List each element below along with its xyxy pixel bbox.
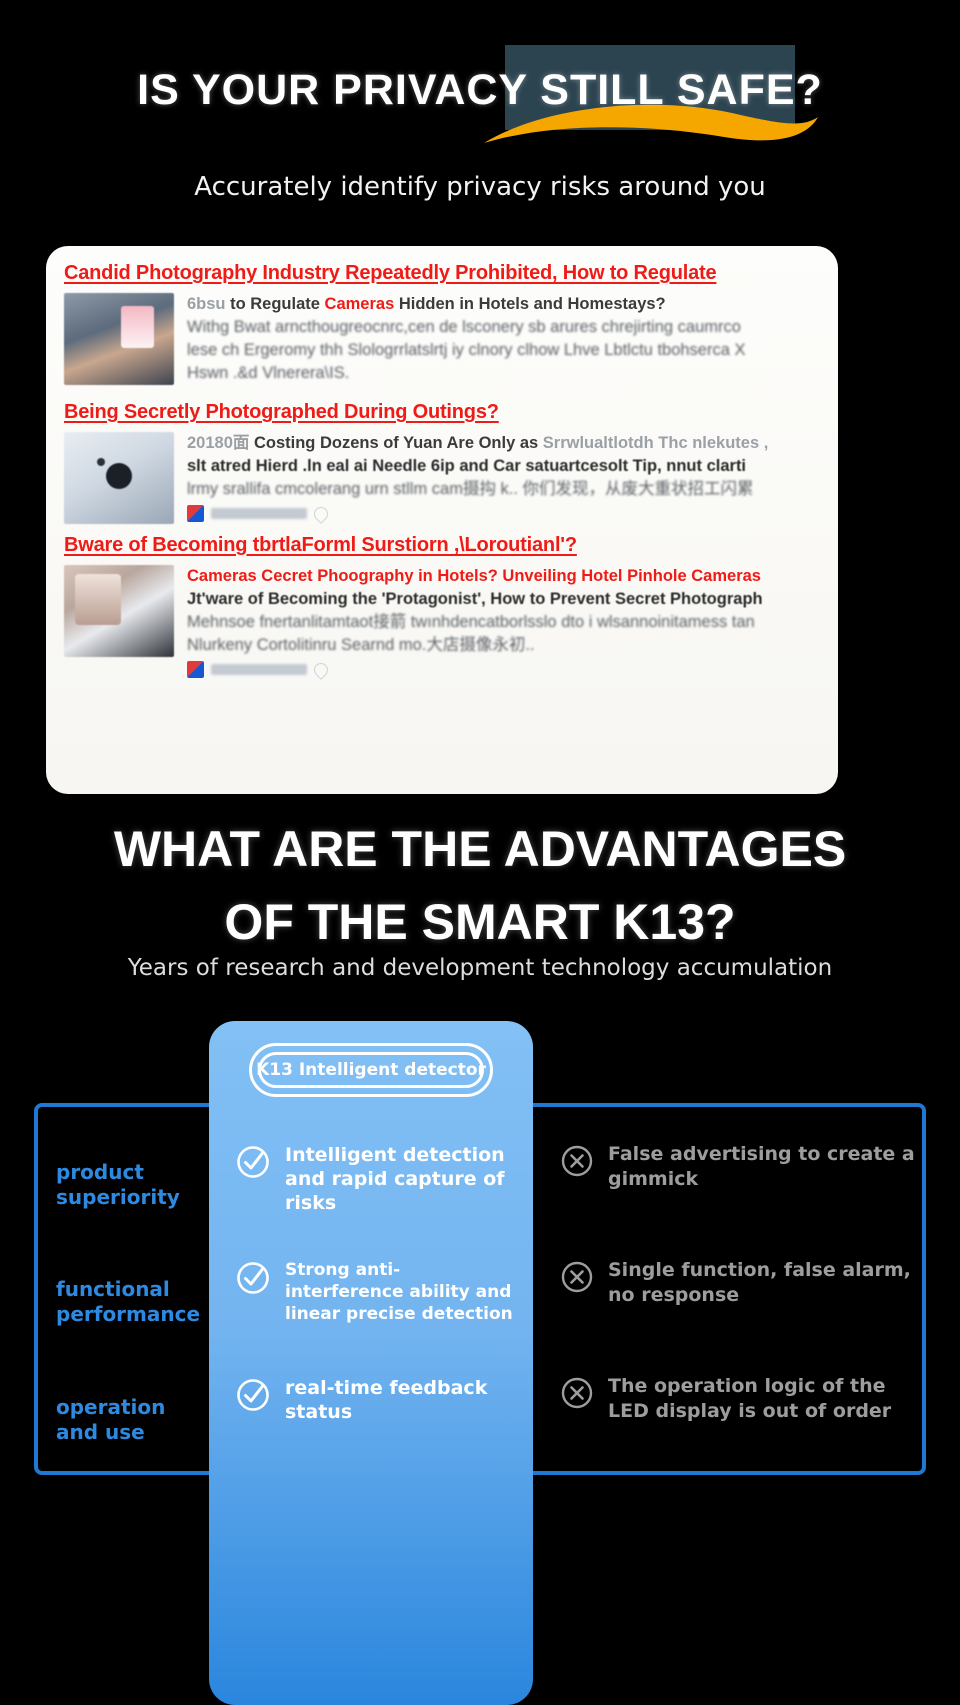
article-lead-suffix: Srrwlualtlotdh Thc nlekutes , [538, 434, 768, 452]
k13-badge: K13 Intelligent detector [249, 1043, 493, 1097]
article-lead-prefix: 6bsu [187, 295, 226, 313]
article-body-line: lrmy srallifa cmcolerang urn stllm cam摄抅… [187, 478, 820, 501]
source-name-blurred [211, 508, 307, 519]
left-label-operation-and-use: operation and use [56, 1395, 165, 1445]
hero-subtitle: Accurately identify privacy risks around… [0, 172, 960, 202]
news-article[interactable]: Candid Photography Industry Repeatedly P… [64, 260, 820, 385]
advantage-text: real-time feedback status [285, 1376, 513, 1424]
article-lead-mid: to Regulate [226, 295, 325, 313]
article-thumbnail [64, 293, 174, 385]
article-body-line: Jt'ware of Becoming the 'Protagonist', H… [187, 588, 820, 611]
check-circle-icon [235, 1260, 271, 1296]
news-article[interactable]: Being Secretly Photographed During Outin… [64, 399, 820, 524]
drawback-text: Single function, false alarm, no respons… [608, 1258, 920, 1308]
article-source [187, 505, 820, 522]
article-body-line: lese ch Ergeromy thh Slologrrlatslrtj iy… [187, 339, 820, 362]
article-lead-line: 6bsu to Regulate Cameras Hidden in Hotel… [187, 293, 820, 316]
article-lead-suffix: Hidden in Hotels and Homestays? [394, 295, 665, 313]
drawback-item: The operation logic of the LED display i… [560, 1374, 920, 1424]
article-lead-line: 20180面 Costing Dozens of Yuan Are Only a… [187, 432, 820, 455]
article-body-line: slt atred Hierd .ln eal ai Needle 6ip an… [187, 455, 820, 478]
article-thumbnail [64, 432, 174, 524]
advantage-text: Intelligent detection and rapid capture … [285, 1143, 513, 1215]
section-title-line2: OF THE SMART K13? [0, 895, 960, 949]
news-article[interactable]: Bware of Becoming tbrtlaForml Surstiorn … [64, 532, 820, 678]
location-pin-icon [311, 504, 331, 524]
page-title: IS YOUR PRIVACY STILL SAFE? [0, 66, 960, 115]
article-headline[interactable]: Candid Photography Industry Repeatedly P… [64, 260, 820, 286]
article-body-line: Nlurkeny Cortolitinru Searnd mo.大店摄像永初.. [187, 634, 820, 657]
advantage-item: real-time feedback status [235, 1376, 513, 1424]
article-body-line: Withg Bwat arncthougreocnrc,cen de lscon… [187, 316, 820, 339]
location-pin-icon [311, 660, 331, 680]
article-body-line: Hswn .&d Vlnerera\IS. [187, 362, 820, 385]
drawback-item: False advertising to create a gimmick [560, 1142, 920, 1192]
source-logo-icon [187, 505, 204, 522]
advantage-text: Strong anti-interference ability and lin… [285, 1259, 513, 1325]
drawback-text: The operation logic of the LED display i… [608, 1374, 920, 1424]
x-circle-icon [560, 1376, 594, 1410]
drawback-item: Single function, false alarm, no respons… [560, 1258, 920, 1308]
article-lead-keyword: Cameras [325, 295, 395, 313]
x-circle-icon [560, 1144, 594, 1178]
hero-section: IS YOUR PRIVACY STILL SAFE? Accurately i… [0, 0, 960, 230]
article-lead-prefix: 20180面 [187, 434, 249, 452]
advantage-item: Strong anti-interference ability and lin… [235, 1259, 513, 1325]
advantage-item: Intelligent detection and rapid capture … [235, 1143, 513, 1215]
k13-badge-label: K13 Intelligent detector [256, 1060, 486, 1080]
check-circle-icon [235, 1144, 271, 1180]
article-thumbnail [64, 565, 174, 657]
drawback-text: False advertising to create a gimmick [608, 1142, 920, 1192]
source-logo-icon [187, 661, 204, 678]
article-source [187, 661, 820, 678]
article-lead-mid: Costing [249, 434, 320, 452]
news-results-card: Candid Photography Industry Repeatedly P… [46, 246, 838, 794]
article-lead-keyword: Dozens of Yuan Are Only as [320, 434, 538, 452]
x-circle-icon [560, 1260, 594, 1294]
section-subtitle: Years of research and development techno… [0, 955, 960, 981]
left-label-product-superiority: product superiority [56, 1160, 180, 1210]
k13-feature-card: K13 Intelligent detector Intelligent det… [209, 1021, 533, 1705]
left-label-functional-performance: functional performance [56, 1277, 200, 1327]
article-lead-keyword: Cameras Cecret Phoography in Hotels? Unv… [187, 565, 820, 588]
article-headline[interactable]: Bware of Becoming tbrtlaForml Surstiorn … [64, 532, 820, 558]
article-headline[interactable]: Being Secretly Photographed During Outin… [64, 399, 820, 425]
section-title-line1: WHAT ARE THE ADVANTAGES [0, 822, 960, 876]
article-body-line: Mehnsoe fnertanlitamtaot接箭 twınhdencatbo… [187, 611, 820, 634]
source-name-blurred [211, 664, 307, 675]
check-circle-icon [235, 1377, 271, 1413]
